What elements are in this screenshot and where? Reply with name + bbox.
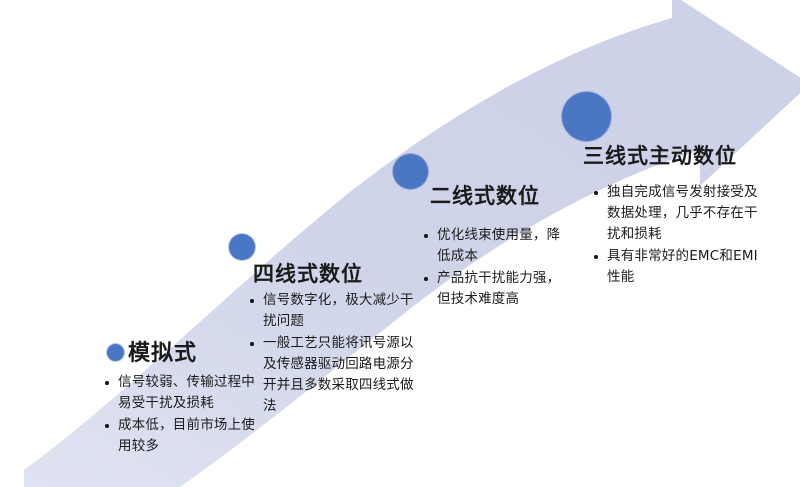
list-item: 优化线束使用量，降低成本: [422, 225, 572, 267]
stage-title-analog: 模拟式: [128, 335, 197, 367]
stage-title-four-wire: 四线式数位: [253, 258, 363, 288]
stage-points-analog: 信号较弱、传输过程中易受干扰及损耗 成本低，目前市场上使用较多: [103, 372, 268, 458]
diagram-canvas: 模拟式 信号较弱、传输过程中易受干扰及损耗 成本低，目前市场上使用较多 四线式数…: [0, 0, 800, 487]
list-item: 成本低，目前市场上使用较多: [103, 415, 268, 457]
list-item: 产品抗干扰能力强，但技术难度高: [422, 268, 572, 310]
stage-points-two-wire: 优化线束使用量，降低成本 产品抗干扰能力强，但技术难度高: [422, 225, 572, 311]
stage-marker-analog: [107, 344, 124, 361]
list-item: 信号数字化，极大减少干扰问题: [248, 290, 418, 332]
list-item: 独自完成信号发射接受及数据处理，几乎不存在干扰和损耗: [592, 182, 767, 245]
stage-title-three-wire-active: 三线式主动数位: [583, 140, 737, 170]
stage-points-three-wire-active: 独自完成信号发射接受及数据处理，几乎不存在干扰和损耗 具有非常好的EMC和EMI…: [592, 182, 767, 289]
stage-points-four-wire: 信号数字化，极大减少干扰问题 一般工艺只能将讯号源以及传感器驱动回路电源分开并且…: [248, 290, 418, 418]
stage-marker-three-wire-active: [562, 92, 611, 141]
list-item: 具有非常好的EMC和EMI性能: [592, 246, 767, 288]
stage-title-two-wire: 二线式数位: [430, 180, 540, 210]
stage-marker-two-wire: [393, 154, 428, 189]
list-item: 信号较弱、传输过程中易受干扰及损耗: [103, 372, 268, 414]
stage-marker-four-wire: [229, 234, 255, 260]
list-item: 一般工艺只能将讯号源以及传感器驱动回路电源分开并且多数采取四线式做法: [248, 333, 418, 417]
